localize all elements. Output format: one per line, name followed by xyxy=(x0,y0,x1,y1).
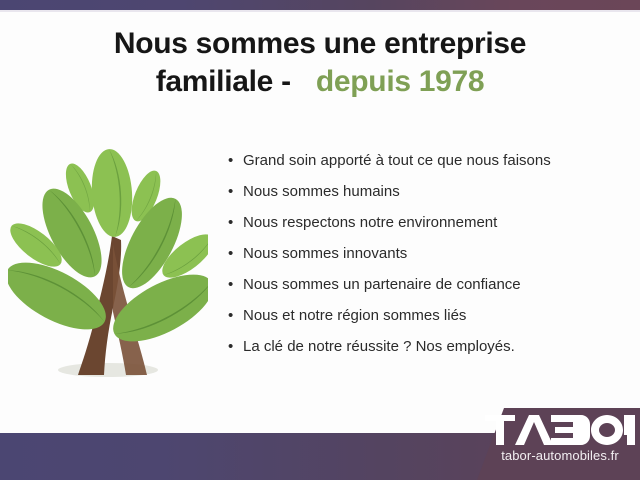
list-item-label: Nous sommes innovants xyxy=(243,243,407,265)
list-item: • Nous respectons notre environnement xyxy=(228,212,628,243)
brand-logo: tabor-automobiles.fr xyxy=(485,414,640,474)
list-item: • La clé de notre réussite ? Nos employé… xyxy=(228,336,628,367)
list-item: • Nous et notre région sommes liés xyxy=(228,305,628,336)
list-item: • Grand soin apporté à tout ce que nous … xyxy=(228,150,628,181)
top-accent-bar xyxy=(0,0,640,10)
bullet-marker-icon: • xyxy=(228,305,243,327)
tree-illustration xyxy=(8,148,208,392)
top-accent-bar-edge xyxy=(0,10,640,12)
list-item-label: La clé de notre réussite ? Nos employés. xyxy=(243,336,515,358)
bullet-marker-icon: • xyxy=(228,212,243,234)
page-title: Nous sommes une entreprise familiale - d… xyxy=(0,25,640,101)
page-title-line-1: Nous sommes une entreprise xyxy=(0,25,640,63)
page-title-line-2: familiale - depuis 1978 xyxy=(0,63,640,101)
list-item-label: Nous sommes un partenaire de confiance xyxy=(243,274,521,296)
slide-canvas: Nous sommes une entreprise familiale - d… xyxy=(0,0,640,480)
list-item-label: Grand soin apporté à tout ce que nous fa… xyxy=(243,150,551,172)
page-title-line-2-plain: familiale - xyxy=(156,65,299,98)
list-item: • Nous sommes innovants xyxy=(228,243,628,274)
page-title-accent: depuis 1978 xyxy=(316,65,484,98)
brand-website: tabor-automobiles.fr xyxy=(485,448,635,464)
list-item: • Nous sommes un partenaire de confiance xyxy=(228,274,628,305)
bullet-marker-icon: • xyxy=(228,274,243,296)
list-item: • Nous sommes humains xyxy=(228,181,628,212)
bullet-marker-icon: • xyxy=(228,243,243,265)
bullet-marker-icon: • xyxy=(228,181,243,203)
benefits-list: • Grand soin apporté à tout ce que nous … xyxy=(228,150,628,367)
list-item-label: Nous respectons notre environnement xyxy=(243,212,497,234)
tabor-wordmark-icon xyxy=(485,414,635,446)
bullet-marker-icon: • xyxy=(228,336,243,358)
bullet-marker-icon: • xyxy=(228,150,243,172)
list-item-label: Nous sommes humains xyxy=(243,181,400,203)
list-item-label: Nous et notre région sommes liés xyxy=(243,305,466,327)
